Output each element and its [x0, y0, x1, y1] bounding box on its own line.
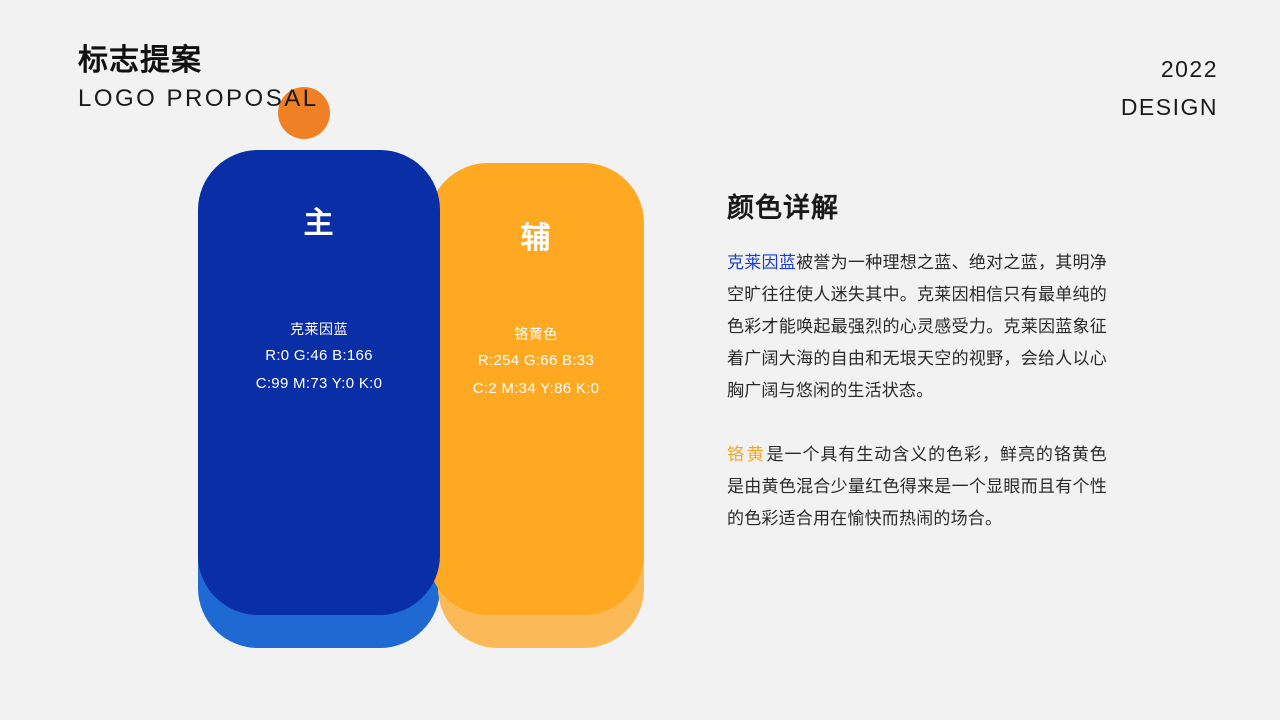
card-info-primary: 克莱因蓝 R:0 G:46 B:166 C:99 M:73 Y:0 K:0	[198, 316, 440, 398]
detail-body-primary: 被誉为一种理想之蓝、绝对之蓝，其明净空旷往往使人迷失其中。克莱因相信只有最单纯的…	[727, 253, 1107, 400]
color-card-secondary[interactable]: 辅 铬黄色 R:254 G:66 B:33 C:2 M:34 Y:86 K:0	[428, 163, 644, 615]
color-card-primary[interactable]: 主 克莱因蓝 R:0 G:46 B:166 C:99 M:73 Y:0 K:0	[198, 150, 440, 615]
detail-heading: 颜色详解	[727, 188, 1107, 228]
color-rgb-primary: R:0 G:46 B:166	[198, 342, 440, 370]
header-year: 2022	[1121, 50, 1218, 88]
keyword-klein-blue: 克莱因蓝	[727, 253, 796, 272]
card-role-label-primary: 主	[198, 198, 440, 242]
color-name-secondary: 铬黄色	[428, 321, 644, 347]
page-title-cn: 标志提案	[78, 40, 319, 82]
color-rgb-secondary: R:254 G:66 B:33	[428, 347, 644, 375]
color-name-primary: 克莱因蓝	[198, 316, 440, 342]
page-title-en: LOGO PROPOSAL	[78, 82, 319, 116]
keyword-chrome-yellow: 铬黄	[727, 445, 767, 464]
detail-body-secondary: 是一个具有生动含义的色彩，鲜亮的铬黄色是由黄色混合少量红色得来是一个显眼而且有个…	[727, 445, 1107, 528]
detail-paragraph-secondary: 铬黄是一个具有生动含义的色彩，鲜亮的铬黄色是由黄色混合少量红色得来是一个显眼而且…	[727, 439, 1107, 535]
header-right-group: 2022 DESIGN	[1121, 50, 1218, 126]
header-left-group: 标志提案 LOGO PROPOSAL	[78, 40, 319, 116]
header-kind: DESIGN	[1121, 88, 1218, 126]
color-detail-panel: 颜色详解 克莱因蓝被誉为一种理想之蓝、绝对之蓝，其明净空旷往往使人迷失其中。克莱…	[727, 188, 1107, 535]
card-role-label-secondary: 辅	[428, 213, 644, 257]
slide-canvas: 标志提案 LOGO PROPOSAL 2022 DESIGN 辅 铬黄色 R:2…	[0, 0, 1280, 720]
color-cmyk-secondary: C:2 M:34 Y:86 K:0	[428, 375, 644, 403]
detail-paragraph-primary: 克莱因蓝被誉为一种理想之蓝、绝对之蓝，其明净空旷往往使人迷失其中。克莱因相信只有…	[727, 247, 1107, 407]
color-cmyk-primary: C:99 M:73 Y:0 K:0	[198, 370, 440, 398]
card-info-secondary: 铬黄色 R:254 G:66 B:33 C:2 M:34 Y:86 K:0	[428, 321, 644, 403]
